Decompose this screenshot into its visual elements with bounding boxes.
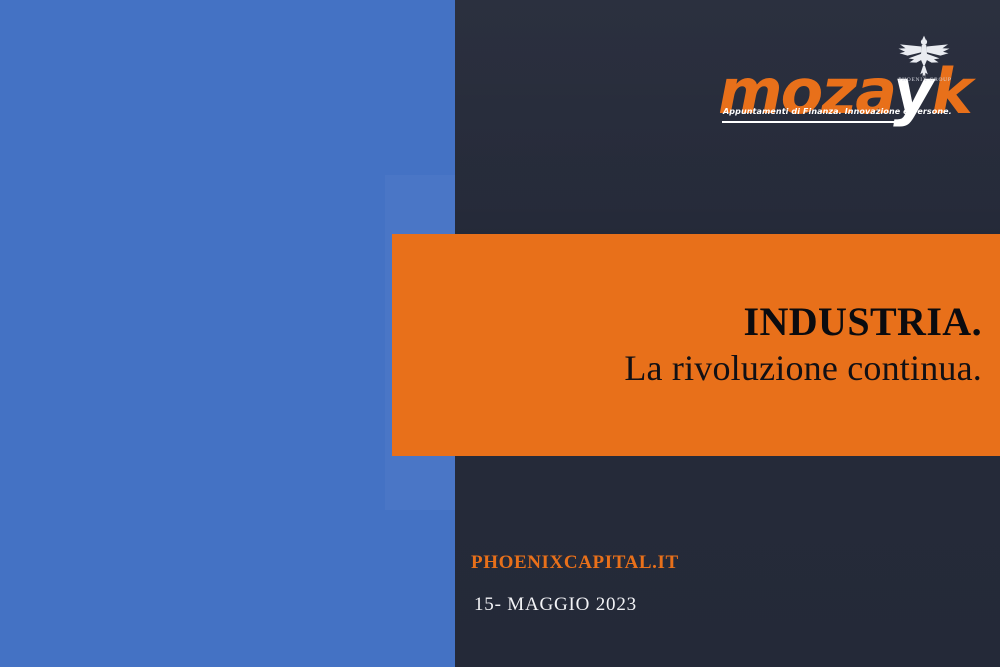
presentation-slide: INDUSTRIA. La rivoluzione continua. PHOE… bbox=[0, 0, 1000, 667]
wordmark-prefix: moza bbox=[718, 55, 893, 128]
event-date: 15- MAGGIO 2023 bbox=[474, 594, 911, 616]
footer-block: PHOENIXCAPITAL.IT 15- MAGGIO 2023 bbox=[471, 552, 911, 616]
logo-tagline: Appuntamenti di Finanza. Innovazione e P… bbox=[723, 107, 952, 117]
logo-underline-rule bbox=[722, 121, 908, 123]
page-subtitle: La rivoluzione continua. bbox=[624, 349, 982, 389]
mozayk-logo[interactable]: mozayk Appuntamenti di Finanza. Innovazi… bbox=[718, 33, 980, 138]
website-link[interactable]: PHOENIXCAPITAL.IT bbox=[471, 552, 911, 574]
phoenix-bird-icon bbox=[896, 33, 952, 79]
headline-block: INDUSTRIA. La rivoluzione continua. bbox=[392, 234, 1000, 456]
page-title: INDUSTRIA. bbox=[744, 301, 983, 343]
phoenix-group-caption: PHOENIX GROUP bbox=[888, 77, 962, 83]
